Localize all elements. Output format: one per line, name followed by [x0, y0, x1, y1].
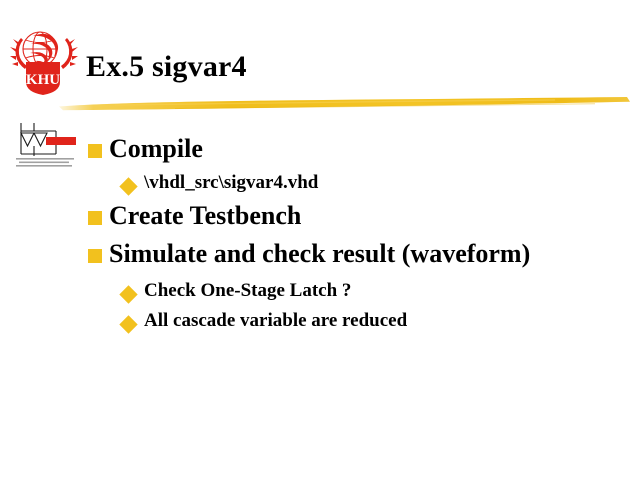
- khu-wordmark: KHU: [26, 72, 60, 88]
- khu-logo: KHU: [9, 24, 79, 96]
- list-item: Simulate and check result (waveform): [88, 239, 628, 269]
- bullet-label: Simulate and check result (waveform): [109, 239, 530, 269]
- slide-canvas: KHU Ex.5 sigvar4: [0, 0, 640, 480]
- square-bullet-icon: [88, 249, 102, 263]
- bullet-label: Compile: [109, 134, 203, 164]
- bullet-label: \vhdl_src\sigvar4.vhd: [144, 172, 318, 194]
- brush-stroke-rule: [55, 92, 635, 118]
- square-bullet-icon: [88, 211, 102, 225]
- bullet-label: Check One-Stage Latch ?: [144, 280, 351, 302]
- page-title: Ex.5 sigvar4: [86, 50, 247, 84]
- list-item: Check One-Stage Latch ?: [122, 280, 628, 302]
- lab-label-box: [46, 137, 76, 145]
- diamond-bullet-icon: [119, 315, 137, 333]
- bullet-label: Create Testbench: [109, 201, 301, 231]
- bullet-list: Compile \vhdl_src\sigvar4.vhd Create Tes…: [88, 134, 628, 332]
- khu-shield: KHU: [26, 62, 60, 95]
- diamond-bullet-icon: [119, 177, 137, 195]
- bullet-label: All cascade variable are reduced: [144, 310, 407, 332]
- lab-logo: [12, 120, 82, 172]
- list-item: All cascade variable are reduced: [122, 310, 628, 332]
- square-bullet-icon: [88, 144, 102, 158]
- lab-caption: [16, 158, 74, 167]
- list-item: Create Testbench: [88, 201, 628, 231]
- diamond-bullet-icon: [119, 285, 137, 303]
- list-item: \vhdl_src\sigvar4.vhd: [122, 172, 628, 194]
- list-item: Compile: [88, 134, 628, 164]
